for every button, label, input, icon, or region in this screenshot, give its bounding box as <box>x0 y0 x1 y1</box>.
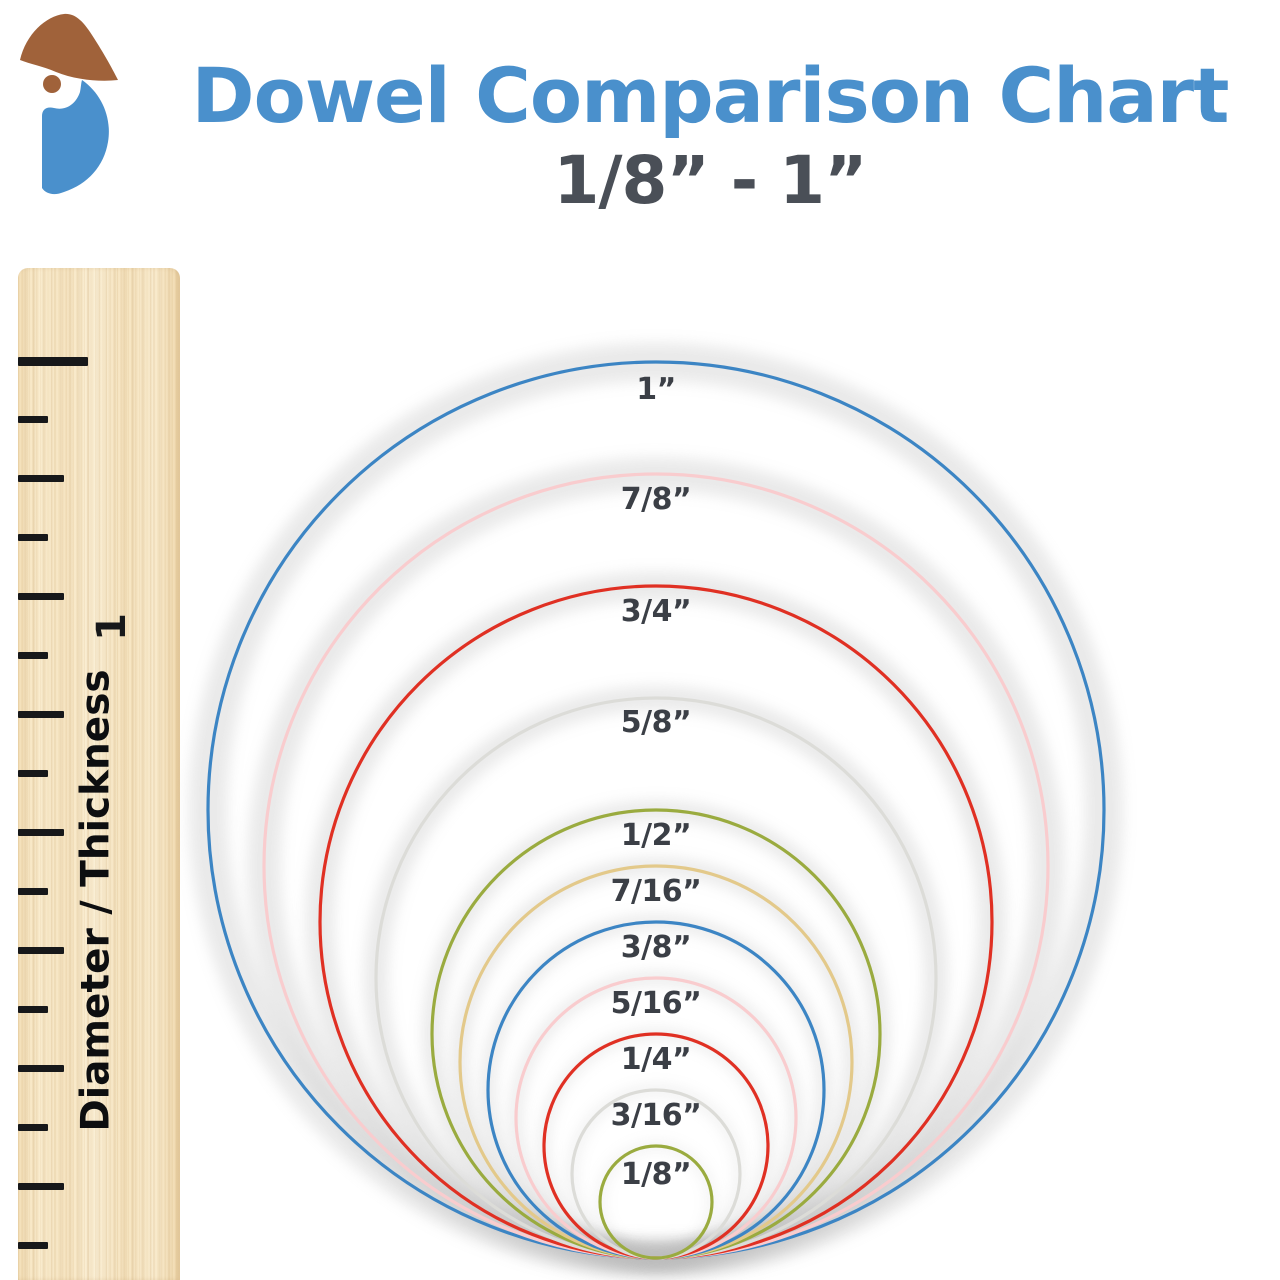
wood-ruler: 1 Diameter / Thickness <box>18 268 180 1280</box>
ruler-tick <box>18 770 48 777</box>
dowel-circle-2 <box>264 474 1048 1258</box>
ruler-tick <box>18 888 48 895</box>
logo-body-shape <box>42 80 109 194</box>
ruler-tick <box>18 711 64 718</box>
header: Dowel Comparison Chart 1/8” - 1” <box>170 58 1250 214</box>
logo-icon <box>8 8 148 198</box>
dowel-size-label: 7/16” <box>611 874 702 909</box>
ruler-tick <box>18 475 64 482</box>
dowel-circle-shadow <box>264 474 1048 1258</box>
dowel-size-label: 1/4” <box>621 1042 691 1077</box>
dowel-circle-shadow <box>488 922 824 1258</box>
ruler-tick <box>18 947 64 954</box>
dowel-size-label: 1” <box>636 372 676 407</box>
dowel-size-label: 7/8” <box>621 482 691 517</box>
logo-hat-shape <box>20 14 118 81</box>
ruler-tick <box>18 416 48 423</box>
ruler-tick <box>18 357 88 366</box>
dowel-size-label: 3/4” <box>621 594 691 629</box>
ruler-tick <box>18 593 64 600</box>
ruler-tick <box>18 652 48 659</box>
ruler-tick <box>18 534 48 541</box>
ruler-tick <box>18 1183 64 1190</box>
page-subtitle: 1/8” - 1” <box>170 148 1250 214</box>
ruler-tick <box>18 829 64 836</box>
ruler-tick <box>18 1065 64 1072</box>
dowel-size-label: 3/8” <box>621 930 691 965</box>
dowel-size-label: 3/16” <box>611 1098 702 1133</box>
dowel-circle-7 <box>488 922 824 1258</box>
brand-logo <box>8 8 148 198</box>
logo-eye-dot <box>43 75 61 93</box>
dowel-size-label: 1/2” <box>621 818 691 853</box>
ruler-tick <box>18 1242 48 1249</box>
page-title: Dowel Comparison Chart <box>170 58 1250 134</box>
dowel-size-label: 1/8” <box>621 1157 691 1192</box>
ruler-tick <box>18 1006 48 1013</box>
ruler-tick <box>18 1124 48 1131</box>
dowel-size-label: 5/16” <box>611 986 702 1021</box>
dowel-size-label: 5/8” <box>621 705 691 740</box>
ruler-axis-label: Diameter / Thickness <box>74 641 119 1161</box>
